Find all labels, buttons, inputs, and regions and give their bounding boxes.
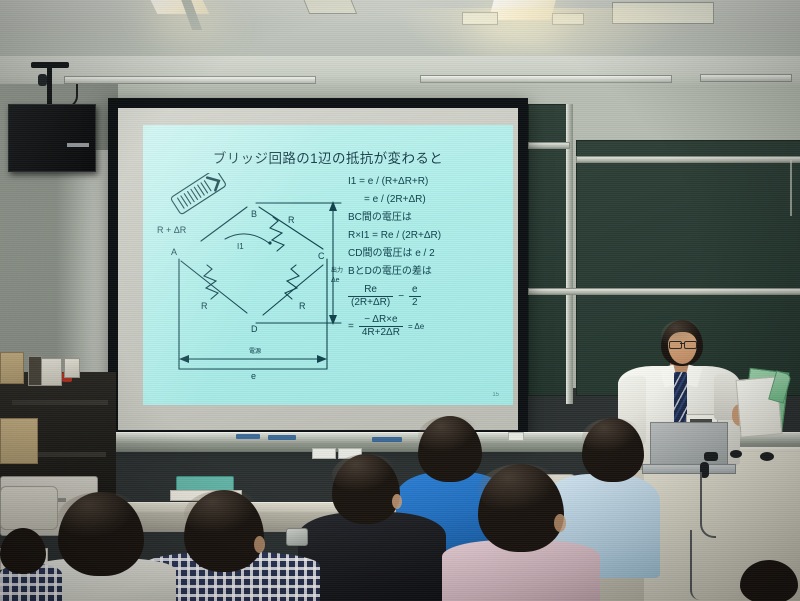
fraction-2: − ΔR×e 4R+2ΔR (359, 315, 403, 338)
fraction-line-2: = − ΔR×e 4R+2ΔR = Δe (348, 315, 508, 338)
speaker-badge (67, 143, 89, 147)
slide-equations: I1 = e / (R+ΔR+R) = e / (2R+ΔR) BC間の電圧は … (348, 177, 508, 345)
student-pink-shirt-hair-highlight (478, 464, 564, 516)
student-far-left (0, 528, 62, 601)
lecturer-glasses-right (684, 341, 697, 349)
ceiling-light-1 (147, 0, 210, 14)
rack-shelf-1 (12, 400, 108, 405)
student-black-blazer-ear (392, 494, 402, 509)
fraction-2-numerator: − ΔR×e (359, 315, 403, 327)
speaker-mount-knob (38, 74, 47, 86)
fraction-2-prefix: = (348, 322, 354, 332)
student-pink-shirt (442, 464, 602, 601)
blackboard-rail-top-left (528, 142, 570, 149)
blackboard-eraser-2 (268, 435, 296, 440)
resistor-label-left: R (201, 301, 208, 311)
projected-slide: ブリッジ回路の1辺の抵抗が変わると (143, 125, 513, 405)
resistor-label-top: R (288, 215, 295, 225)
cardboard-box-top (0, 352, 24, 384)
cable-connector-2 (730, 450, 742, 458)
student-black-blazer-hair-highlight (332, 454, 400, 496)
soffit-rail-far-right (700, 74, 792, 82)
equation-line-6: BとDの電圧の差は (348, 267, 508, 277)
fraction-operator: − (398, 292, 404, 302)
student-checkered-shirt-ear (254, 536, 265, 553)
blackboard-divider-rail (566, 104, 573, 404)
fraction-left-numerator: Re (348, 285, 393, 297)
ceiling-panel-2 (462, 12, 498, 25)
student-far-right-head (740, 560, 798, 601)
equation-line-2: = e / (2R+ΔR) (348, 195, 508, 205)
blackboard-rail-middle (528, 288, 800, 295)
handheld-device (286, 528, 308, 546)
blackboard-rail-top-right (576, 156, 800, 163)
slide-page-number: 15 (492, 392, 499, 398)
ceiling-panel-4 (612, 2, 714, 24)
blackboard-eraser-1 (236, 434, 260, 439)
cable-connector-3 (760, 452, 774, 461)
cardboard-box-lower (0, 418, 38, 464)
ceiling-soffit (0, 56, 800, 91)
student-white-shirt-left-hair-highlight (58, 492, 144, 542)
fraction-2-suffix: = Δe (408, 323, 424, 331)
output-symbol: Δe (331, 277, 340, 284)
equipment-box-dark (28, 356, 42, 386)
cable-connector-1 (704, 452, 718, 461)
equation-line-1: I1 = e / (R+ΔR+R) (348, 177, 508, 187)
equation-line-4: R×I1 = Re / (2R+ΔR) (348, 231, 508, 241)
student-blue-shirt-hair-highlight (418, 416, 482, 456)
blackboard-pull-cord (790, 160, 792, 216)
supply-symbol: e (251, 371, 256, 381)
student-far-left-head (0, 528, 46, 574)
supply-label-jp: 電源 (249, 347, 261, 355)
equation-line-5: CD間の電圧は e / 2 (348, 249, 508, 259)
fraction-right-numerator: e (409, 285, 421, 297)
student-white-shirt-right-hair-highlight (582, 418, 644, 456)
ceiling-panel-3 (552, 13, 584, 25)
node-label-a: A (171, 247, 177, 257)
wall-speaker (8, 104, 96, 172)
resistor-label-right: R (299, 301, 306, 311)
ceiling-panel-1 (303, 0, 357, 14)
student-checkered-shirt-hair-highlight (184, 490, 264, 538)
student-pink-shirt-ear (554, 514, 566, 532)
lecturer-handout (736, 370, 800, 436)
fraction-line-1: Re (2R+ΔR) − e 2 (348, 285, 508, 308)
node-label-d: D (251, 324, 258, 334)
power-cable-1 (700, 472, 716, 538)
fraction-left-denominator: (2R+ΔR) (348, 297, 393, 308)
fraction-right: e 2 (409, 285, 421, 308)
fraction-left: Re (2R+ΔR) (348, 285, 393, 308)
lecture-hall-photo: ブリッジ回路の1辺の抵抗が変わると (0, 0, 800, 601)
lecturer-glasses-bridge (680, 343, 684, 344)
fraction-2-denominator: 4R+2ΔR (359, 327, 403, 338)
ceiling-light-2 (489, 0, 557, 20)
equipment-box-right (64, 358, 80, 378)
power-cable-2 (690, 530, 702, 600)
node-label-c: C (318, 251, 325, 261)
equation-line-3: BC間の電圧は (348, 213, 508, 223)
node-label-b: B (251, 209, 257, 219)
soffit-rail-right (420, 75, 672, 83)
output-label-jp: 出力 (331, 265, 343, 274)
fraction-right-denominator: 2 (409, 297, 421, 308)
student-far-right (740, 560, 800, 601)
strain-gauge-label: R + ΔR (157, 225, 187, 235)
soffit-rail-left (64, 76, 316, 84)
current-label: I1 (237, 242, 244, 251)
wheatstone-bridge-diagram: B A C D R R R I1 R + ΔR 電源 e (151, 173, 346, 393)
slide-title: ブリッジ回路の1辺の抵抗が変わると (143, 147, 513, 167)
